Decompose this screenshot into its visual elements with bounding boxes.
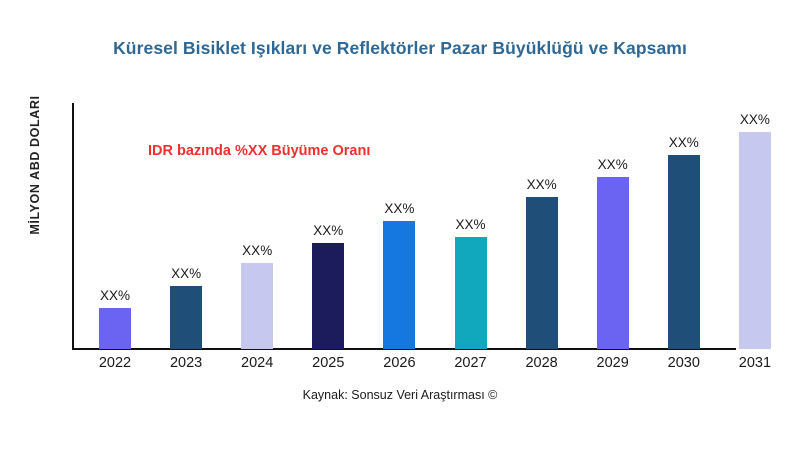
plot-area: XX%2022XX%2023XX%2024XX%2025XX%2026XX%20…: [0, 0, 800, 450]
bar-2030[interactable]: XX%: [668, 155, 700, 349]
source-note: Kaynak: Sonsuz Veri Araştırması ©: [0, 388, 800, 402]
bar-2026[interactable]: XX%: [383, 221, 415, 349]
x-tick-label-2023: 2023: [170, 355, 202, 371]
bar-2029[interactable]: XX%: [597, 177, 629, 349]
x-tick-label-2027: 2027: [454, 355, 486, 371]
bar-value-label-2031: XX%: [740, 112, 770, 127]
bar-value-label-2030: XX%: [669, 135, 699, 150]
x-tick-label-2026: 2026: [383, 355, 415, 371]
bar-value-label-2027: XX%: [455, 217, 485, 232]
x-tick-label-2029: 2029: [597, 355, 629, 371]
bar-rect-2029: [597, 177, 629, 349]
x-tick-label-2028: 2028: [525, 355, 557, 371]
bar-value-label-2026: XX%: [384, 201, 414, 216]
bar-2028[interactable]: XX%: [526, 197, 558, 349]
bar-2027[interactable]: XX%: [455, 237, 487, 349]
x-tick-label-2025: 2025: [312, 355, 344, 371]
bar-rect-2023: [170, 286, 202, 349]
bar-rect-2022: [99, 308, 131, 349]
bar-rect-2025: [312, 243, 344, 349]
bar-value-label-2029: XX%: [598, 157, 628, 172]
x-tick-label-2031: 2031: [739, 355, 771, 371]
x-tick-label-2024: 2024: [241, 355, 273, 371]
bar-2022[interactable]: XX%: [99, 308, 131, 349]
bar-rect-2031: [739, 132, 771, 349]
bar-value-label-2025: XX%: [313, 223, 343, 238]
bar-rect-2030: [668, 155, 700, 349]
bar-value-label-2024: XX%: [242, 243, 272, 258]
bar-rect-2026: [383, 221, 415, 349]
bar-rect-2027: [455, 237, 487, 349]
bar-chart-figure: Küresel Bisiklet Işıkları ve Reflektörle…: [0, 0, 800, 450]
x-tick-label-2022: 2022: [99, 355, 131, 371]
bar-value-label-2022: XX%: [100, 288, 130, 303]
x-tick-label-2030: 2030: [668, 355, 700, 371]
bar-rect-2028: [526, 197, 558, 349]
bar-2025[interactable]: XX%: [312, 243, 344, 349]
bar-value-label-2023: XX%: [171, 266, 201, 281]
bar-2031[interactable]: XX%: [739, 132, 771, 349]
bar-value-label-2028: XX%: [527, 177, 557, 192]
bar-2023[interactable]: XX%: [170, 286, 202, 349]
bar-2024[interactable]: XX%: [241, 263, 273, 349]
bar-rect-2024: [241, 263, 273, 349]
